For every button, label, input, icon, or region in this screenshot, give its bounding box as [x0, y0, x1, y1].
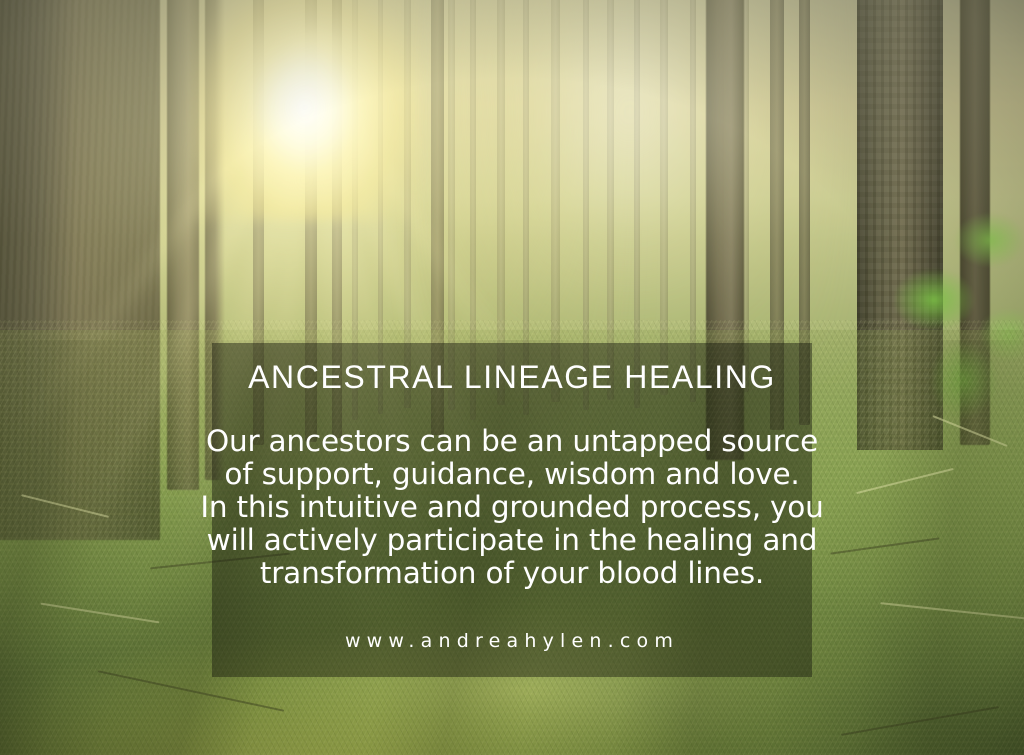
website-url[interactable]: www.andreahylen.com — [345, 630, 679, 652]
body-line: will actively participate in the healing… — [200, 524, 823, 557]
body-line: In this intuitive and grounded process, … — [200, 491, 823, 524]
page-title: ANCESTRAL LINEAGE HEALING — [248, 360, 776, 395]
poster-body-text: Our ancestors can be an untapped source … — [200, 425, 823, 590]
body-line: of support, guidance, wisdom and love. — [200, 458, 823, 491]
text-overlay-card: ANCESTRAL LINEAGE HEALING Our ancestors … — [212, 343, 812, 677]
poster-canvas: ANCESTRAL LINEAGE HEALING Our ancestors … — [0, 0, 1024, 755]
body-line: Our ancestors can be an untapped source — [200, 425, 823, 458]
body-line: transformation of your blood lines. — [200, 557, 823, 590]
overlay-content: ANCESTRAL LINEAGE HEALING Our ancestors … — [228, 343, 796, 677]
